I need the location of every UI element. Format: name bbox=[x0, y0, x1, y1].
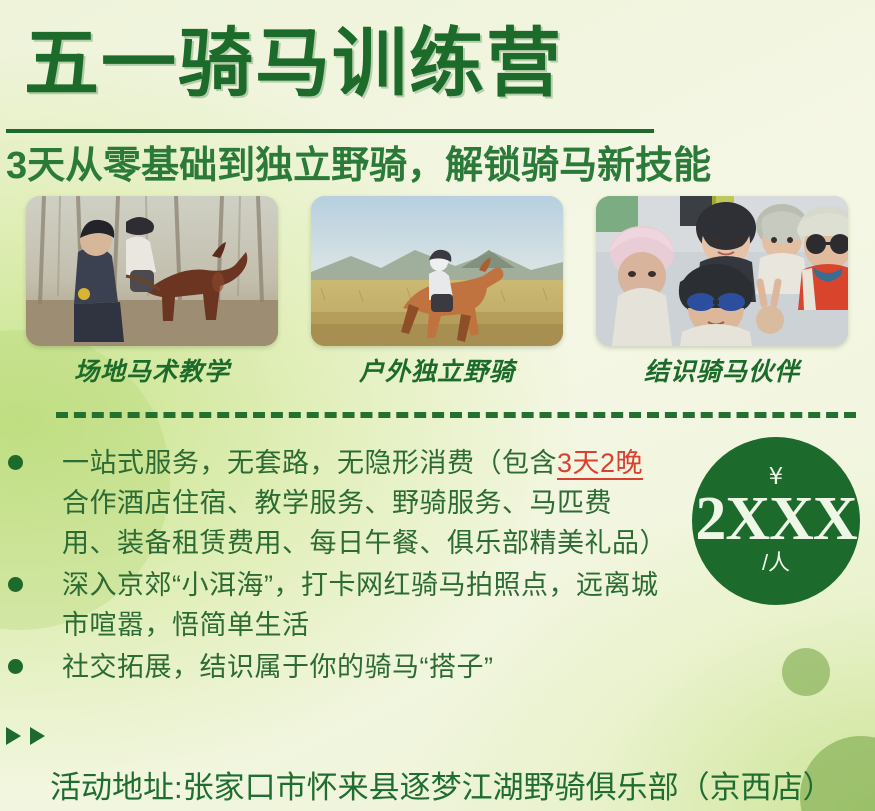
bullet-1-segment-1: 一站式服务，无套路，无隐形消费（包含 bbox=[62, 448, 557, 478]
event-address: 活动地址:张家口市怀来县逐梦江湖野骑俱乐部（京西店） bbox=[50, 762, 870, 807]
bullet-text-2: 深入京郊“小洱海”，打卡网红骑马拍照点，远离城市喧嚣，悟简单生活 bbox=[62, 565, 660, 645]
triangle-right-icon bbox=[6, 727, 21, 745]
decorative-circle-small bbox=[782, 648, 830, 696]
price-unit: /人 bbox=[762, 551, 790, 575]
list-item: 社交拓展，结识属于你的骑马“搭子” bbox=[0, 647, 660, 687]
bullet-dot-icon bbox=[8, 577, 23, 592]
photo-strip bbox=[26, 196, 848, 346]
outdoor-trail-riding-photo bbox=[311, 196, 563, 346]
poster-title: 五一骑马训练营 bbox=[24, 26, 684, 101]
bullet-1-highlight: 3天2晚 bbox=[557, 448, 643, 480]
riding-buddies-group-photo bbox=[596, 196, 848, 346]
feature-bullet-list: 一站式服务，无套路，无隐形消费（包含3天2晚合作酒店住宿、教学服务、野骑服务、马… bbox=[0, 443, 660, 689]
photo-caption-2: 户外独立野骑 bbox=[311, 352, 563, 388]
bullet-dot-icon bbox=[8, 659, 23, 674]
photo-captions: 场地马术教学 户外独立野骑 结识骑马伙伴 bbox=[26, 352, 848, 388]
photo-caption-1: 场地马术教学 bbox=[26, 352, 278, 388]
bullet-text-3: 社交拓展，结识属于你的骑马“搭子” bbox=[62, 647, 660, 687]
list-item: 深入京郊“小洱海”，打卡网红骑马拍照点，远离城市喧嚣，悟简单生活 bbox=[0, 565, 660, 645]
triangle-right-icon bbox=[30, 727, 45, 745]
price-amount: 2XXX bbox=[695, 489, 856, 549]
poster-root: 五一骑马训练营 3天从零基础到独立野骑，解锁骑马新技能 bbox=[0, 0, 875, 811]
poster-subtitle: 3天从零基础到独立野骑，解锁骑马新技能 bbox=[6, 146, 806, 188]
bullet-1-segment-3: 合作酒店住宿、教学服务、野骑服务、马匹费用、装备租赁费用、每日午餐、俱乐部精美礼… bbox=[62, 488, 667, 558]
bullet-dot-icon bbox=[8, 455, 23, 470]
title-divider-rule bbox=[6, 129, 654, 133]
list-item: 一站式服务，无套路，无隐形消费（包含3天2晚合作酒店住宿、教学服务、野骑服务、马… bbox=[0, 443, 660, 563]
price-badge: ¥ 2XXX /人 bbox=[692, 437, 860, 605]
bullet-text-1: 一站式服务，无套路，无隐形消费（包含3天2晚合作酒店住宿、教学服务、野骑服务、马… bbox=[62, 443, 660, 563]
arena-horsemanship-lesson-photo bbox=[26, 196, 278, 346]
photo-caption-3: 结识骑马伙伴 bbox=[596, 352, 848, 388]
dashed-divider bbox=[56, 412, 856, 418]
arrow-markers bbox=[6, 727, 45, 745]
price-currency-symbol: ¥ bbox=[769, 467, 784, 487]
